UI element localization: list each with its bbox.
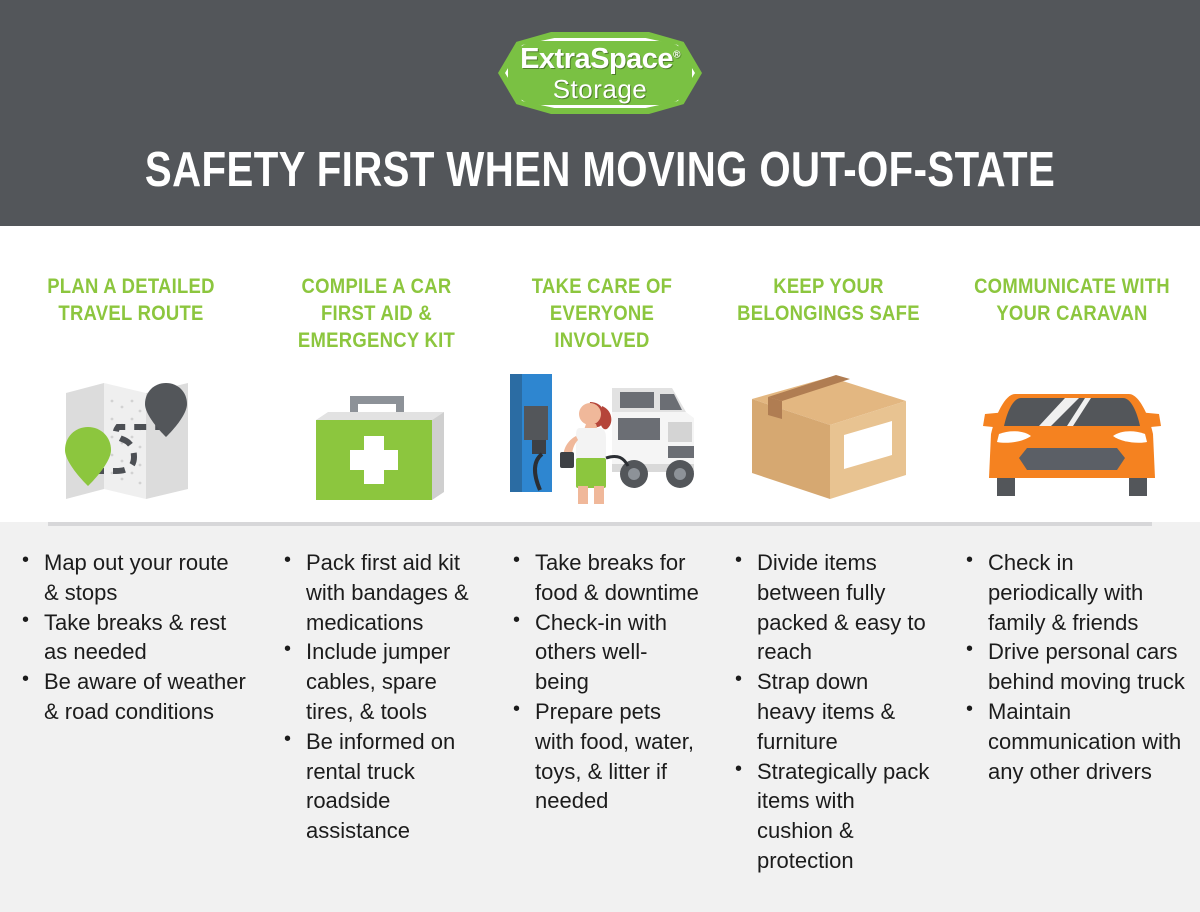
column-body-5: Check in periodically with family & frie… (944, 522, 1200, 912)
bullet-list-5: Check in periodically with family & frie… (962, 548, 1186, 786)
column-first-aid-kit: COMPILE A CAR FIRST AID & EMERGENCY KIT … (262, 226, 491, 912)
column-header-5: COMMUNICATE WITH YOUR CARAVAN (944, 226, 1200, 522)
column-body-4: Divide items between fully packed & easy… (713, 522, 944, 912)
column-everyone-involved: TAKE CARE OF EVERYONE INVOLVED (491, 226, 713, 912)
column-header-1: PLAN A DETAILED TRAVEL ROUTE (0, 226, 262, 522)
list-item: Take breaks for food & downtime (509, 548, 699, 608)
list-item: Strap down heavy items & furniture (731, 667, 930, 756)
registered-trademark-icon: ® (673, 49, 680, 60)
column-title-3: TAKE CARE OF EVERYONE INVOLVED (513, 274, 691, 355)
list-item: Maintain communication with any other dr… (962, 697, 1186, 786)
list-item: Be aware of weather & road conditions (18, 667, 248, 727)
column-title-5: COMMUNICATE WITH YOUR CARAVAN (968, 274, 1176, 328)
logo-line-1: ExtraSpace® (520, 45, 680, 74)
icon-container-2 (262, 356, 491, 506)
bullet-list-3: Take breaks for food & downtime Check-in… (509, 548, 699, 816)
list-item: Include jumper cables, spare tires, & to… (280, 637, 477, 726)
orange-car-icon (977, 386, 1167, 506)
page-title: SAFETY FIRST WHEN MOVING OUT-OF-STATE (145, 142, 1055, 198)
header-banner: ExtraSpace® Storage SAFETY FIRST WHEN MO… (0, 0, 1200, 226)
column-communicate-caravan: COMMUNICATE WITH YOUR CARAVAN (944, 226, 1200, 912)
horizontal-divider (48, 522, 1152, 526)
column-belongings-safe: KEEP YOUR BELONGINGS SAFE Divide items b… (713, 226, 944, 912)
logo-brand-name: ExtraSpace (520, 43, 673, 75)
icon-container-4 (713, 356, 944, 506)
extraspace-storage-logo: ExtraSpace® Storage (498, 32, 702, 114)
list-item: Be informed on rental truck roadside ass… (280, 727, 477, 846)
column-body-1: Map out your route & stops Take breaks &… (0, 522, 262, 912)
infographic-page: ExtraSpace® Storage SAFETY FIRST WHEN MO… (0, 0, 1200, 912)
bullet-list-1: Map out your route & stops Take breaks &… (18, 548, 248, 727)
list-item: Take breaks & rest as needed (18, 608, 248, 668)
column-plan-route: PLAN A DETAILED TRAVEL ROUTE (0, 226, 262, 912)
rv-fueling-icon (502, 366, 702, 506)
logo-line-2: Storage (553, 76, 648, 102)
logo-text: ExtraSpace® Storage (498, 32, 702, 114)
folded-map-icon (56, 371, 206, 506)
column-header-3: TAKE CARE OF EVERYONE INVOLVED (491, 226, 713, 522)
list-item: Strategically pack items with cushion & … (731, 757, 930, 876)
first-aid-kit-icon (302, 386, 452, 506)
column-header-2: COMPILE A CAR FIRST AID & EMERGENCY KIT (262, 226, 491, 522)
list-item: Check in periodically with family & frie… (962, 548, 1186, 637)
column-title-2: COMPILE A CAR FIRST AID & EMERGENCY KIT (285, 274, 469, 355)
column-title-1: PLAN A DETAILED TRAVEL ROUTE (25, 274, 238, 328)
columns-container: PLAN A DETAILED TRAVEL ROUTE (0, 226, 1200, 912)
list-item: Prepare pets with food, water, toys, & l… (509, 697, 699, 816)
bullet-list-4: Divide items between fully packed & easy… (731, 548, 930, 876)
icon-container-3 (491, 356, 713, 506)
cardboard-box-icon (744, 371, 914, 506)
icon-container-1 (0, 356, 262, 506)
icon-container-5 (944, 356, 1200, 506)
list-item: Map out your route & stops (18, 548, 248, 608)
column-header-4: KEEP YOUR BELONGINGS SAFE (713, 226, 944, 522)
list-item: Pack first aid kit with bandages & medic… (280, 548, 477, 637)
list-item: Divide items between fully packed & easy… (731, 548, 930, 667)
list-item: Check-in with others well-being (509, 608, 699, 697)
list-item: Drive personal cars behind moving truck (962, 637, 1186, 697)
column-body-2: Pack first aid kit with bandages & medic… (262, 522, 491, 912)
bullet-list-2: Pack first aid kit with bandages & medic… (280, 548, 477, 846)
column-body-3: Take breaks for food & downtime Check-in… (491, 522, 713, 912)
column-title-4: KEEP YOUR BELONGINGS SAFE (736, 274, 922, 328)
